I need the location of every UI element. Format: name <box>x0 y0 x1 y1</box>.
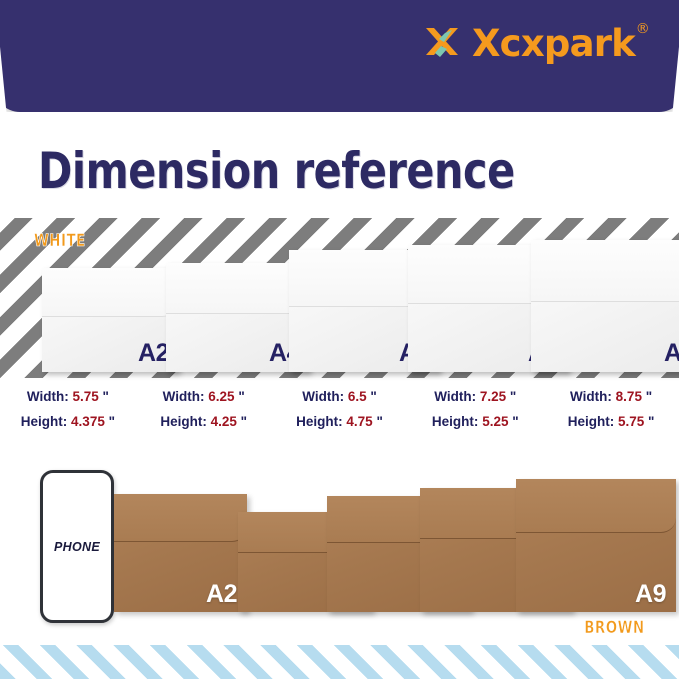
height-cell-a7: Height: 5.25 " <box>407 414 543 429</box>
height-label: Height: <box>21 414 68 429</box>
brand-name: Xcxpark® <box>472 25 635 62</box>
page-title: Dimension reference <box>38 143 515 199</box>
width-value: 8.75 <box>616 389 642 404</box>
brand-logo: Xcxpark® <box>423 24 635 62</box>
x-mark-icon <box>423 24 463 62</box>
registered-trademark-icon: ® <box>636 22 649 36</box>
phone-label: PHONE <box>54 540 100 554</box>
unit-mark: " <box>370 389 376 404</box>
white-envelope-a4: A4 <box>166 263 309 372</box>
height-cell-a2: Height: 4.375 " <box>0 414 136 429</box>
bottom-stripe-background <box>0 645 679 679</box>
height-value: 5.25 <box>482 414 508 429</box>
height-value: 4.25 <box>211 414 237 429</box>
white-section-caption: WHITE <box>34 231 86 251</box>
height-cell-a9: Height: 5.75 " <box>543 414 679 429</box>
envelope-flap <box>114 494 247 542</box>
brown-section-caption: BROWN <box>585 618 645 638</box>
width-cell-a2: Width: 5.75 " <box>0 389 136 404</box>
width-label: Width: <box>570 389 612 404</box>
width-value: 5.75 <box>72 389 98 404</box>
height-cell-a4: Height: 4.25 " <box>136 414 272 429</box>
height-label: Height: <box>568 414 615 429</box>
brown-envelope-a9: A9 <box>516 479 676 612</box>
width-label: Width: <box>27 389 69 404</box>
unit-mark: " <box>510 389 516 404</box>
envelope-size-label: A9 <box>635 580 666 609</box>
unit-mark: " <box>109 414 115 429</box>
width-cell-a9: Width: 8.75 " <box>543 389 679 404</box>
width-cell-a7: Width: 7.25 " <box>407 389 543 404</box>
unit-mark: " <box>241 414 247 429</box>
envelope-flap <box>42 268 178 317</box>
header-content: Xcxpark® <box>0 0 673 98</box>
height-dimensions-row: Height: 4.375 " Height: 4.25 " Height: 4… <box>0 414 679 429</box>
envelope-flap <box>166 263 309 314</box>
envelope-size-label: A2 <box>206 580 237 609</box>
height-value: 4.75 <box>346 414 372 429</box>
unit-mark: " <box>103 389 109 404</box>
white-envelope-a2: A2 <box>42 268 178 372</box>
height-label: Height: <box>432 414 479 429</box>
width-cell-a4: Width: 6.25 " <box>136 389 272 404</box>
height-cell-a6: Height: 4.75 " <box>272 414 408 429</box>
envelope-flap <box>516 479 676 533</box>
height-value: 4.375 <box>71 414 105 429</box>
width-value: 6.25 <box>208 389 234 404</box>
phone-reference: PHONE <box>40 470 114 623</box>
brown-envelope-a2: A2 <box>114 494 247 612</box>
width-label: Width: <box>302 389 344 404</box>
infographic-page: Xcxpark® Dimension reference WHITE A2 A4… <box>0 0 679 679</box>
white-envelope-a9: A9 <box>531 240 679 372</box>
width-value: 6.5 <box>348 389 367 404</box>
header-banner: Xcxpark® <box>0 0 679 112</box>
envelope-size-label: A9 <box>664 339 679 368</box>
width-value: 7.25 <box>480 389 506 404</box>
envelope-size-label: A2 <box>138 339 169 368</box>
height-label: Height: <box>296 414 343 429</box>
height-value: 5.75 <box>618 414 644 429</box>
brand-name-text: Xcxpark <box>472 22 635 65</box>
height-label: Height: <box>160 414 207 429</box>
width-cell-a6: Width: 6.5 " <box>272 389 408 404</box>
unit-mark: " <box>376 414 382 429</box>
unit-mark: " <box>648 414 654 429</box>
width-label: Width: <box>163 389 205 404</box>
envelope-flap <box>531 240 679 302</box>
width-dimensions-row: Width: 5.75 " Width: 6.25 " Width: 6.5 "… <box>0 389 679 404</box>
unit-mark: " <box>238 389 244 404</box>
unit-mark: " <box>512 414 518 429</box>
unit-mark: " <box>646 389 652 404</box>
width-label: Width: <box>434 389 476 404</box>
